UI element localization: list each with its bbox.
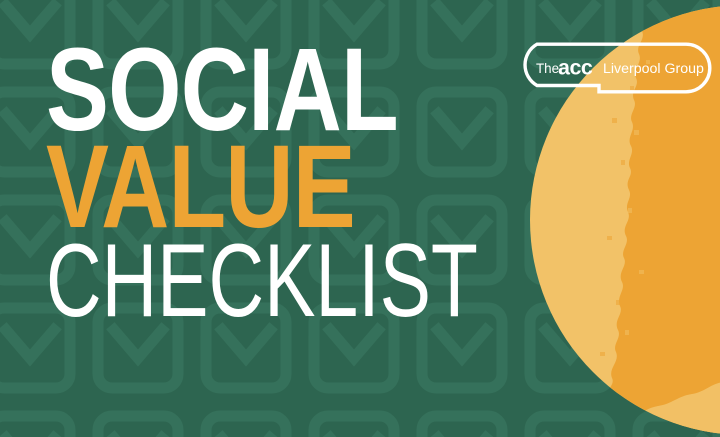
title-line-checklist: CHECKLIST	[46, 237, 478, 326]
logo-prefix: The	[536, 61, 559, 76]
poster-canvas: SOCIAL VALUE CHECKLIST The acc Liverpool…	[0, 0, 720, 437]
logo-suffix: Liverpool Group	[603, 61, 704, 77]
acc-liverpool-group-logo[interactable]: The acc Liverpool Group	[511, 42, 712, 94]
logo-brand: acc	[558, 56, 593, 80]
